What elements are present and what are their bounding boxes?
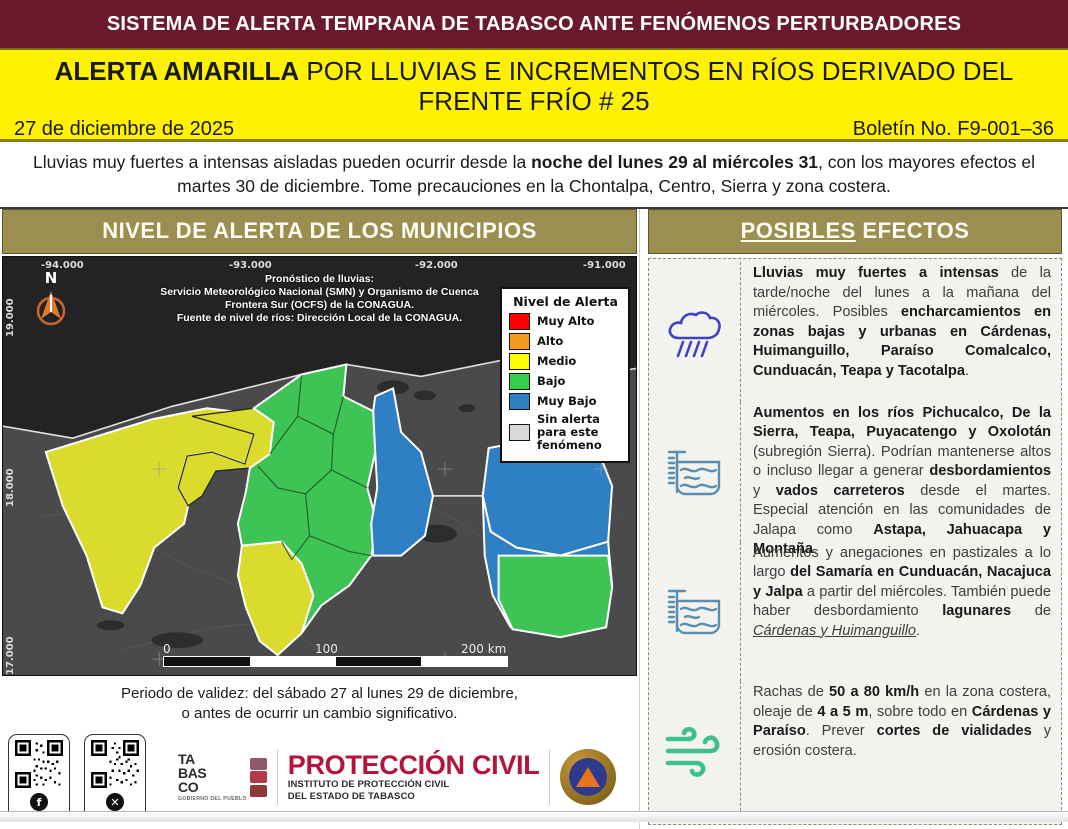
- scale-bar-segments: [163, 656, 508, 667]
- pastures-seg-4: de: [1011, 603, 1051, 619]
- legend-swatch-bajo: [509, 373, 530, 390]
- effect-icon-cell-rain: [649, 262, 741, 402]
- brand-divider-1: [277, 749, 278, 805]
- map-lon-label-3: -91.000: [583, 260, 626, 271]
- tabasco-word-line-1: BAS: [178, 766, 247, 780]
- effects-list: Lluvias muy fuertes a intensas de la tar…: [648, 258, 1062, 825]
- seal-triangle-icon: [576, 767, 600, 787]
- wind-icon: [662, 725, 728, 777]
- alert-level-map[interactable]: -94.000 -93.000 -92.000 -91.000 19.000 1…: [2, 256, 637, 676]
- effect-icon-cell-wind: [649, 681, 741, 821]
- alert-title-rest: POR LLUVIAS E INCREMENTOS EN RÍOS DERIVA…: [299, 56, 1013, 116]
- effect-item-rivers: Aumentos en los ríos Pichucalco, De la S…: [649, 402, 1061, 542]
- tabasco-tagline: GOBIERNO DEL PUEBLO: [178, 796, 247, 802]
- pastures-seg-6: .: [916, 623, 920, 639]
- legend-item-sin-alerta: Sin alerta para este fenómeno: [509, 413, 622, 452]
- scale-tick-labels: 0 100 200 km: [163, 642, 508, 656]
- wind-seg-0: Rachas de: [753, 684, 829, 700]
- legend-swatch-muy-alto: [509, 313, 530, 330]
- map-container: -94.000 -93.000 -92.000 -91.000 19.000 1…: [0, 254, 639, 725]
- scale-seg-2: [250, 657, 336, 666]
- summary-part-1: Lluvias muy fuertes a intensas aisladas …: [33, 152, 531, 172]
- map-region-tenosique: [499, 556, 612, 638]
- water-level-gauge-icon: [663, 581, 727, 641]
- legend-label-muy-alto: Muy Alto: [537, 315, 594, 328]
- pastures-seg-5: Cárdenas y Huimanguillo: [753, 623, 916, 639]
- map-validity-note: Periodo de validez: del sábado 27 al lun…: [2, 676, 637, 724]
- pc-subtitle-line-2: DEL ESTADO DE TABASCO: [288, 791, 540, 803]
- effect-icon-cell-rivers: [649, 402, 741, 542]
- qr-card-facebook[interactable]: f: [8, 734, 70, 820]
- qr-code-facebook-icon: [15, 740, 63, 788]
- alert-bulletin-number: Boletín No. F9-001–36: [853, 118, 1054, 141]
- wind-seg-7: cortes de vialidades: [877, 723, 1032, 739]
- summary-paragraph: Lluvias muy fuertes a intensas aisladas …: [0, 142, 1068, 209]
- legend-item-bajo: Bajo: [509, 373, 622, 390]
- tabasco-word-line-2: CO: [178, 780, 247, 794]
- map-lat-label-1: 18.000: [5, 468, 16, 507]
- scale-tick-1: 100: [315, 642, 338, 656]
- effects-header-rest: EFECTOS: [856, 218, 970, 243]
- proteccion-civil-wordmark: PROTECCIÓN CIVIL INSTITUTO DE PROTECCIÓN…: [288, 751, 540, 803]
- map-lon-label-1: -93.000: [229, 260, 272, 271]
- legend-swatch-muy-bajo: [509, 393, 530, 410]
- legend-item-muy-alto: Muy Alto: [509, 313, 622, 330]
- north-arrow-icon: [29, 285, 73, 329]
- effects-panel-header: POSIBLES EFECTOS: [648, 209, 1062, 254]
- scale-tick-0: 0: [163, 642, 171, 656]
- wind-seg-6: . Prever: [806, 723, 877, 739]
- facebook-icon: f: [30, 793, 48, 811]
- map-panel: NIVEL DE ALERTA DE LOS MUNICIPIOS: [0, 209, 640, 829]
- pc-title: PROTECCIÓN CIVIL: [288, 751, 540, 779]
- legend-swatch-sin-alerta: [509, 424, 530, 441]
- bottom-strip: [0, 811, 1068, 822]
- tabasco-government-logo: TA BAS CO GOBIERNO DEL PUEBLO: [178, 752, 267, 802]
- legend-item-alto: Alto: [509, 333, 622, 350]
- brand-divider-2: [549, 749, 550, 805]
- pc-subtitle-line-1: INSTITUTO DE PROTECCIÓN CIVIL: [288, 779, 540, 791]
- legend-label-sin-alerta: Sin alerta para este fenómeno: [537, 413, 622, 452]
- validity-line-2: o antes de ocurrir un cambio significati…: [32, 704, 607, 724]
- legend-label-alto: Alto: [537, 335, 563, 348]
- legend-title: Nivel de Alerta: [509, 294, 622, 309]
- effect-icon-cell-pastures: [649, 542, 741, 682]
- rivers-seg-2: desbordamientos: [929, 463, 1051, 479]
- rain-seg-3: .: [965, 363, 969, 379]
- effect-item-pastures: Aumentos y anegaciones en pastizales a l…: [649, 542, 1061, 682]
- qr-card-x[interactable]: ✕: [84, 734, 146, 820]
- tabasco-emblem-icon: [250, 758, 267, 797]
- effect-text-pastures: Aumentos y anegaciones en pastizales a l…: [741, 542, 1061, 644]
- effects-header-underlined: POSIBLES: [741, 218, 856, 243]
- map-panel-header: NIVEL DE ALERTA DE LOS MUNICIPIOS: [2, 209, 637, 254]
- legend-label-bajo: Bajo: [537, 375, 565, 388]
- alert-meta-row: 27 de diciembre de 2025 Boletín No. F9-0…: [14, 118, 1054, 141]
- alert-title: ALERTA AMARILLA POR LLUVIAS E INCREMENTO…: [14, 56, 1054, 116]
- system-banner-title: SISTEMA DE ALERTA TEMPRANA DE TABASCO AN…: [107, 13, 961, 36]
- wind-seg-3: 4 a 5 m: [817, 704, 868, 720]
- scale-tick-2: 200 km: [461, 642, 506, 656]
- legend-swatch-alto: [509, 333, 530, 350]
- wind-seg-4: , sobre todo en: [868, 704, 971, 720]
- rain-cloud-icon: [663, 304, 727, 360]
- map-lon-label-2: -92.000: [415, 260, 458, 271]
- summary-bold-dates: noche del lunes 29 al miércoles 31: [531, 152, 818, 172]
- map-source-line-0: Pronóstico de lluvias:: [3, 273, 636, 286]
- content-area: NIVEL DE ALERTA DE LOS MUNICIPIOS: [0, 209, 1068, 829]
- rivers-seg-4: vados carreteros: [776, 483, 905, 499]
- scale-seg-1: [164, 657, 250, 666]
- map-lat-label-2: 17.000: [5, 636, 16, 675]
- scale-seg-3: [336, 657, 422, 666]
- effects-panel: POSIBLES EFECTOS Lluvias muy fuertes a i…: [640, 209, 1068, 829]
- effect-text-wind: Rachas de 50 a 80 km/h en la zona coster…: [741, 681, 1061, 763]
- map-legend: Nivel de Alerta Muy Alto Alto Medio: [500, 287, 630, 463]
- legend-label-medio: Medio: [537, 355, 576, 368]
- alert-header-block: ALERTA AMARILLA POR LLUVIAS E INCREMENTO…: [0, 48, 1068, 142]
- alert-date: 27 de diciembre de 2025: [14, 118, 234, 141]
- pastures-seg-3: lagunares: [942, 603, 1011, 619]
- system-banner: SISTEMA DE ALERTA TEMPRANA DE TABASCO AN…: [0, 0, 1068, 48]
- effect-item-wind: Rachas de 50 a 80 km/h en la zona coster…: [649, 681, 1061, 821]
- compass-rose: N: [29, 271, 73, 331]
- water-level-gauge-icon: [663, 442, 727, 502]
- legend-swatch-medio: [509, 353, 530, 370]
- x-twitter-icon: ✕: [106, 793, 124, 811]
- tabasco-word-line-0: TA: [178, 752, 247, 766]
- scale-seg-4: [421, 657, 507, 666]
- map-scale-bar: 0 100 200 km: [163, 642, 508, 667]
- proteccion-civil-seal-icon: [560, 749, 616, 805]
- effect-text-rain: Lluvias muy fuertes a intensas de la tar…: [741, 262, 1061, 383]
- alert-level-label: ALERTA AMARILLA: [55, 56, 300, 86]
- legend-item-medio: Medio: [509, 353, 622, 370]
- effect-text-rivers: Aumentos en los ríos Pichucalco, De la S…: [741, 402, 1061, 562]
- legend-label-muy-bajo: Muy Bajo: [537, 395, 597, 408]
- compass-north-label: N: [29, 271, 73, 285]
- brand-row: TA BAS CO GOBIERNO DEL PUEBLO PROTECCIÓN…: [178, 749, 616, 805]
- seal-inner-disc: [569, 758, 607, 796]
- validity-line-1: Periodo de validez: del sábado 27 al lun…: [32, 684, 607, 704]
- wind-seg-1: 50 a 80 km/h: [829, 684, 919, 700]
- effect-item-rain: Lluvias muy fuertes a intensas de la tar…: [649, 262, 1061, 402]
- legend-item-muy-bajo: Muy Bajo: [509, 393, 622, 410]
- rivers-seg-3: y: [753, 483, 776, 499]
- tabasco-wordmark: TA BAS CO GOBIERNO DEL PUEBLO: [178, 752, 247, 802]
- rain-seg-0: Lluvias muy fuertes a intensas: [753, 265, 999, 281]
- qr-code-x-icon: [91, 740, 139, 788]
- rivers-seg-0: Aumentos en los ríos Pichucalco, De la S…: [753, 405, 1051, 441]
